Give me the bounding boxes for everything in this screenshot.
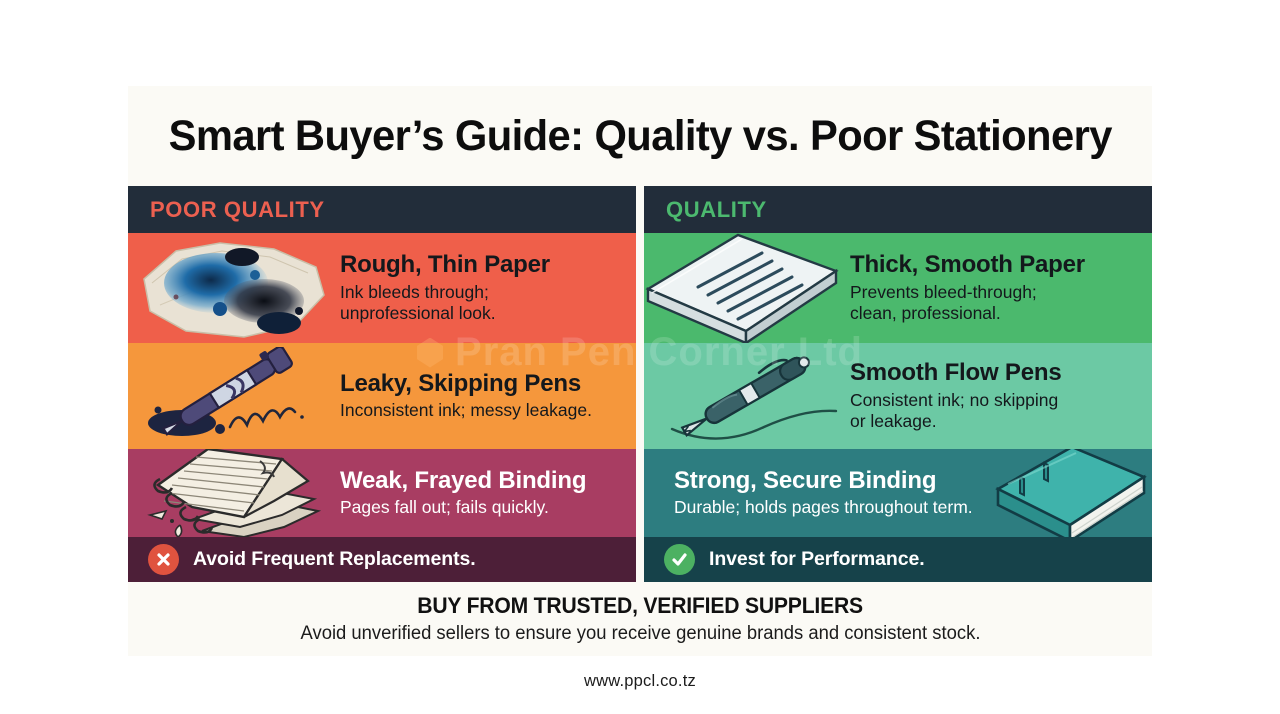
poor-row2-title: Leaky, Skipping Pens [340,371,592,398]
site-url: www.ppcl.co.tz [0,672,1280,691]
quality-row2-desc: Consistent ink; no skipping or leakage. [850,390,1061,432]
column-quality: QUALITY [644,186,1152,582]
poor-row-pens: Leaky, Skipping Pens Inconsistent ink; m… [128,343,636,449]
poor-footer-label: Avoid Frequent Replacements. [193,548,476,571]
quality-row-binding: Strong, Secure Binding Durable; holds pa… [644,449,1152,537]
poor-row-binding: Weak, Frayed Binding Pages fall out; fai… [128,449,636,537]
quality-row1-title: Thick, Smooth Paper [850,252,1085,279]
banner-title: BUY FROM TRUSTED, VERIFIED SUPPLIERS [417,593,863,619]
poor-row3-desc: Pages fall out; fails quickly. [340,497,586,518]
quality-row-pens: Smooth Flow Pens Consistent ink; no skip… [644,343,1152,449]
banner-subtitle: Avoid unverified sellers to ensure you r… [300,623,980,645]
column-divider [636,186,644,582]
page-title: Smart Buyer’s Guide: Quality vs. Poor St… [168,112,1111,161]
title-band: Smart Buyer’s Guide: Quality vs. Poor St… [128,86,1152,186]
crumpled-inkblot-paper-icon [128,239,339,343]
comparison-grid: POOR QUALITY [128,186,1152,582]
poor-header-label: POOR QUALITY [150,197,325,223]
hardcover-book-icon [968,449,1152,537]
poor-row1-title: Rough, Thin Paper [340,252,550,279]
poor-row1-desc: Ink bleeds through; unprofessional look. [340,282,550,324]
quality-row3-desc: Durable; holds pages throughout term. [674,497,973,518]
poor-row2-desc: Inconsistent ink; messy leakage. [340,400,592,421]
smooth-pen-icon [658,347,858,447]
check-circle-icon [664,544,695,575]
torn-spiral-notebook-icon [132,449,342,537]
quality-row-paper: Thick, Smooth Paper Prevents bleed-throu… [644,233,1152,343]
quality-header-label: QUALITY [666,197,767,223]
paper-stack-icon [644,233,850,343]
leaking-pen-icon [134,347,339,447]
quality-row1-desc: Prevents bleed-through; clean, professio… [850,282,1085,324]
poor-row-paper: Rough, Thin Paper Ink bleeds through; un… [128,233,636,343]
trusted-suppliers-banner: BUY FROM TRUSTED, VERIFIED SUPPLIERS Avo… [128,582,1152,656]
poor-row3-title: Weak, Frayed Binding [340,468,586,495]
poor-footer-bar: Avoid Frequent Replacements. [128,537,636,582]
quality-footer-label: Invest for Performance. [709,548,925,571]
x-circle-icon [148,544,179,575]
quality-row2-title: Smooth Flow Pens [850,360,1061,387]
column-poor-quality: POOR QUALITY [128,186,636,582]
poor-header: POOR QUALITY [128,186,636,233]
quality-header: QUALITY [644,186,1152,233]
quality-row3-title: Strong, Secure Binding [674,468,973,495]
quality-footer-bar: Invest for Performance. [644,537,1152,582]
infographic-poster: Smart Buyer’s Guide: Quality vs. Poor St… [0,0,1280,714]
